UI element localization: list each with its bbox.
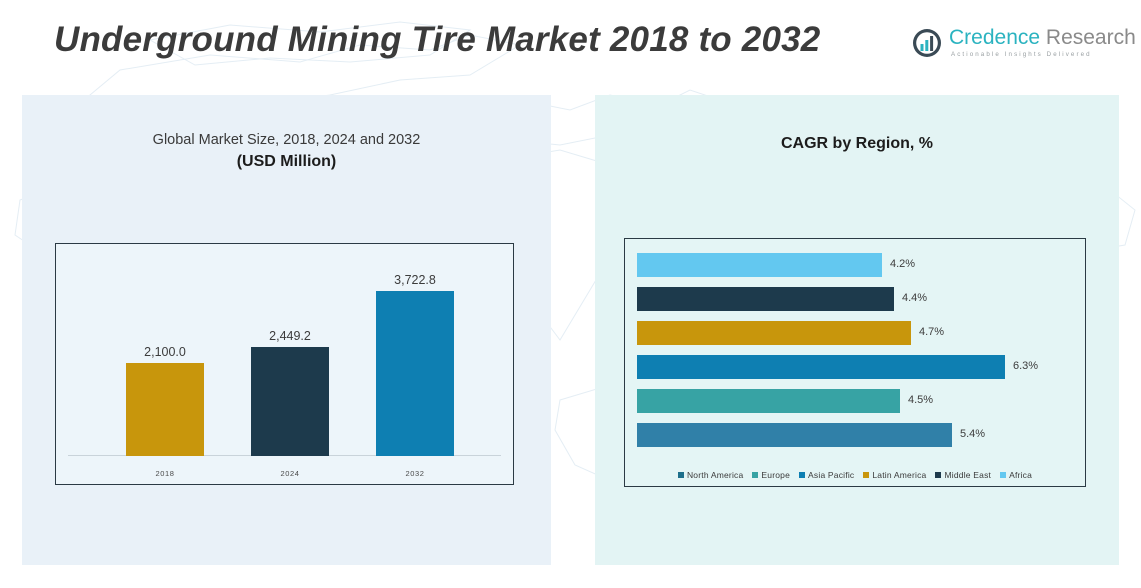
legend-item: Middle East (935, 470, 991, 480)
cagr-bar-row: 4.7% (637, 321, 1057, 345)
cagr-bar (637, 321, 911, 345)
cagr-bar-row: 5.4% (637, 423, 1057, 447)
market-size-bar (251, 347, 329, 456)
legend-item: Europe (752, 470, 790, 480)
cagr-bar (637, 423, 952, 447)
market-size-bar-category: 2032 (335, 469, 495, 478)
legend-swatch (935, 472, 941, 478)
market-size-panel: Global Market Size, 2018, 2024 and 2032 … (22, 95, 551, 565)
legend-label: North America (687, 470, 743, 480)
cagr-bar (637, 355, 1005, 379)
cagr-bar-row: 6.3% (637, 355, 1057, 379)
market-size-bar-group: 3,722.82032 (376, 291, 454, 456)
cagr-bar-value: 6.3% (1013, 360, 1038, 372)
legend-item: Africa (1000, 470, 1032, 480)
bar-chart-circle-icon (911, 27, 943, 59)
market-size-bar (126, 363, 204, 456)
legend-item: Asia Pacific (799, 470, 854, 480)
logo-brand-credence: Credence (949, 26, 1040, 49)
cagr-bar-row: 4.2% (637, 253, 1057, 277)
legend-swatch (752, 472, 758, 478)
legend-swatch (799, 472, 805, 478)
legend-swatch (863, 472, 869, 478)
cagr-bar (637, 253, 882, 277)
cagr-bar-value: 4.7% (919, 326, 944, 338)
cagr-bar-row: 4.4% (637, 287, 1057, 311)
cagr-legend: North AmericaEuropeAsia PacificLatin Ame… (625, 470, 1085, 480)
legend-label: Asia Pacific (808, 470, 854, 480)
market-size-bar (376, 291, 454, 456)
legend-item: North America (678, 470, 743, 480)
cagr-bar-value: 4.2% (890, 258, 915, 270)
legend-swatch (678, 472, 684, 478)
legend-swatch (1000, 472, 1006, 478)
cagr-bar (637, 389, 900, 413)
market-size-plot-area: 2,100.020182,449.220243,722.82032 (56, 244, 513, 484)
left-panel-subtitle: Global Market Size, 2018, 2024 and 2032 (22, 132, 551, 148)
right-panel-title: CAGR by Region, % (595, 135, 1119, 153)
logo-brand-research: Research (1040, 26, 1136, 49)
left-panel-unit: (USD Million) (22, 153, 551, 171)
market-size-bar-group: 2,449.22024 (251, 347, 329, 456)
page-header: Underground Mining Tire Market 2018 to 2… (0, 0, 1141, 95)
legend-item: Latin America (863, 470, 926, 480)
cagr-bar-row: 4.5% (637, 389, 1057, 413)
legend-label: Latin America (872, 470, 926, 480)
cagr-bar-value: 4.5% (908, 394, 933, 406)
legend-label: Africa (1009, 470, 1032, 480)
logo-brand-text: Credence Research (949, 26, 1136, 50)
market-size-bar-group: 2,100.02018 (126, 363, 204, 456)
legend-label: Middle East (944, 470, 991, 480)
cagr-bar-chart: 4.2%4.4%4.7%6.3%4.5%5.4% North AmericaEu… (624, 238, 1086, 487)
market-size-bar-value: 2,100.0 (85, 345, 245, 359)
logo-tagline: Actionable Insights Delivered (951, 51, 1092, 58)
market-size-bar-value: 3,722.8 (335, 273, 495, 287)
legend-label: Europe (761, 470, 790, 480)
page-title: Underground Mining Tire Market 2018 to 2… (54, 20, 820, 60)
cagr-panel: CAGR by Region, % 4.2%4.4%4.7%6.3%4.5%5.… (595, 95, 1119, 565)
market-size-bar-chart: 2,100.020182,449.220243,722.82032 (55, 243, 514, 485)
cagr-bar (637, 287, 894, 311)
cagr-bar-value: 5.4% (960, 428, 985, 440)
market-size-bar-value: 2,449.2 (210, 329, 370, 343)
cagr-bar-value: 4.4% (902, 292, 927, 304)
credence-research-logo: Credence Research Actionable Insights De… (911, 26, 1101, 64)
